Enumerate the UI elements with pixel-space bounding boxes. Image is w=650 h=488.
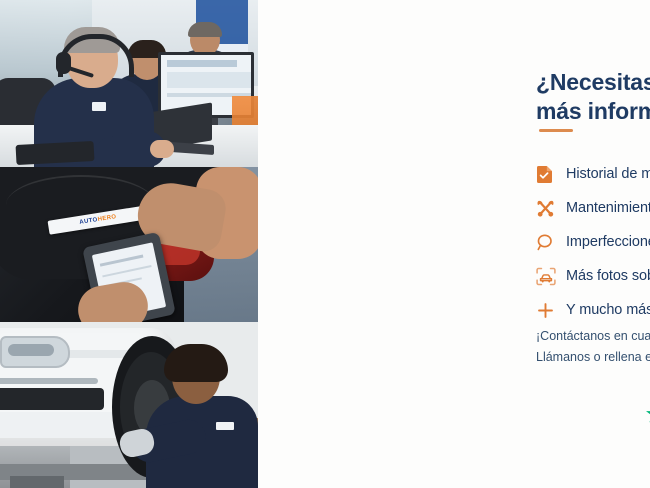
- magnifier-icon: [536, 233, 566, 252]
- contact-line-1: ¡Contáctanos en cualquier momento para m…: [536, 326, 650, 347]
- feature-item-imperfections: Imperfecciones: [536, 226, 650, 258]
- tools-icon: [536, 199, 566, 218]
- page-title: ¿Necesitas más información?: [536, 68, 650, 126]
- feature-item-maintenance-done: Mantenimiento realizado: [536, 192, 650, 224]
- trustpilot-star-icon: [646, 404, 650, 423]
- feature-item-maintenance-history: Historial de mantenimientos: [536, 158, 650, 190]
- headline-line-2: más información?: [536, 97, 650, 126]
- ruler-brand-hero: HERO: [97, 214, 117, 223]
- feature-label: Mantenimiento realizado: [566, 200, 650, 216]
- contact-line-2: Llámanos o rellena el formulario de cont…: [536, 347, 650, 368]
- feature-list: Historial de mantenimientos M: [536, 158, 650, 328]
- ruler-brand-auto: AUTO: [79, 217, 98, 226]
- feature-label: Y mucho más: [566, 302, 650, 318]
- contact-text: ¡Contáctanos en cualquier momento para m…: [536, 326, 650, 367]
- feature-label: Historial de mantenimientos: [566, 166, 650, 182]
- plus-icon: [536, 301, 566, 320]
- call-center-agents-photo: [0, 0, 258, 167]
- photo-collage: AUTOHERO: [0, 0, 258, 488]
- maintenance-history-icon: [536, 165, 566, 184]
- feature-label: Más fotos sobre el coche: [566, 268, 650, 284]
- trustpilot-widget[interactable]: Trustpilot Excelente EMPRESA VERIFICAD: [646, 386, 650, 448]
- feature-item-more-photos: Más fotos sobre el coche: [536, 260, 650, 292]
- mechanic-wheel-inspection-photo: [0, 322, 258, 488]
- vehicle-inspection-ruler-photo: AUTOHERO: [0, 167, 258, 322]
- title-divider: [539, 129, 573, 132]
- feature-item-much-more: Y mucho más: [536, 294, 650, 326]
- content-panel: ¿Necesitas más información? Estamos enca…: [258, 0, 650, 488]
- feature-label: Imperfecciones: [566, 234, 650, 250]
- car-scan-icon: [536, 267, 566, 286]
- trustpilot-logo[interactable]: Trustpilot: [646, 402, 650, 424]
- information-banner: AUTOHERO: [0, 0, 650, 488]
- headline-line-1: ¿Necesitas: [536, 69, 650, 95]
